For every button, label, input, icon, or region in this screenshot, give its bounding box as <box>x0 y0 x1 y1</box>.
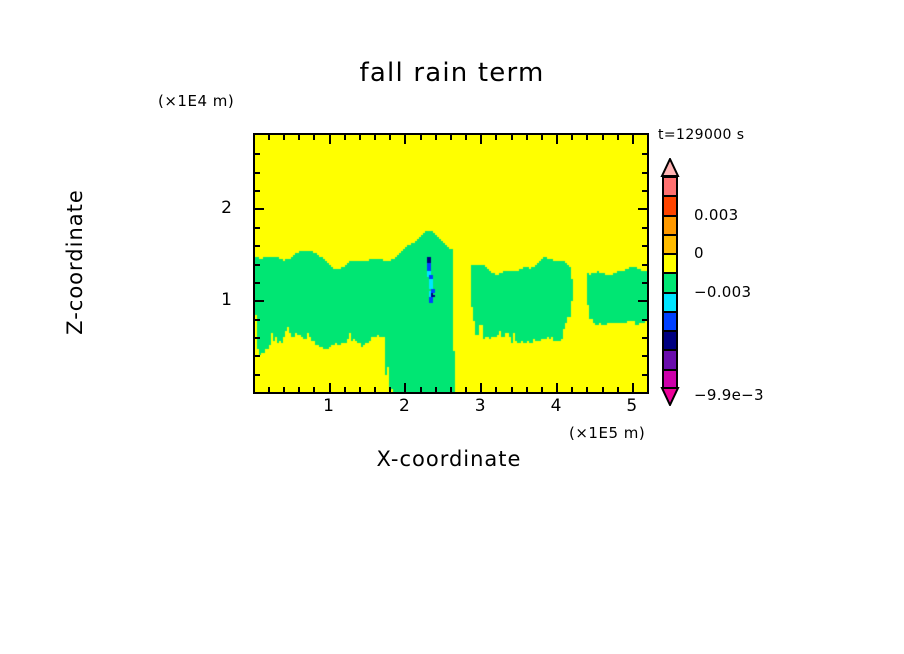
tick-mark <box>255 208 264 210</box>
tick-mark <box>255 153 260 155</box>
tick-mark <box>642 282 647 284</box>
tick-mark <box>638 208 647 210</box>
tick-mark <box>465 135 467 140</box>
x-axis-title: X-coordinate <box>253 447 645 471</box>
tick-mark <box>268 135 270 140</box>
x-tick-label: 3 <box>475 396 486 416</box>
tick-mark <box>632 135 634 144</box>
tick-mark <box>556 135 558 144</box>
tick-mark <box>571 135 573 140</box>
tick-mark <box>511 135 513 140</box>
tick-mark <box>541 135 543 140</box>
x-tick-label: 4 <box>551 396 562 416</box>
tick-mark <box>255 264 260 266</box>
tick-mark <box>617 135 619 140</box>
tick-mark <box>526 387 528 392</box>
tick-mark <box>642 319 647 321</box>
tick-mark <box>480 135 482 144</box>
x-tick-label: 5 <box>626 396 637 416</box>
tick-mark <box>642 190 647 192</box>
tick-mark <box>344 135 346 140</box>
tick-mark <box>329 383 331 392</box>
figure-canvas: fall rain term (×1E4 m) t=129000 s 12345… <box>0 0 904 654</box>
tick-mark <box>642 153 647 155</box>
tick-mark <box>632 383 634 392</box>
tick-mark <box>541 387 543 392</box>
tick-mark <box>642 374 647 376</box>
tick-mark <box>255 190 260 192</box>
colorbar-tick-label: 0.003 <box>694 206 738 224</box>
chart-title: fall rain term <box>0 58 904 88</box>
tick-mark <box>404 383 406 392</box>
tick-mark <box>642 227 647 229</box>
colorbar <box>659 158 681 406</box>
colorbar-tick-label: 0 <box>694 244 704 262</box>
tick-mark <box>255 227 260 229</box>
colorbar-tick-label: −9.9e−3 <box>694 386 764 404</box>
tick-mark <box>602 135 604 140</box>
y-axis-title: Z-coordinate <box>63 112 87 412</box>
tick-mark <box>495 387 497 392</box>
x-tick-label: 1 <box>323 396 334 416</box>
tick-mark <box>313 135 315 140</box>
tick-mark <box>255 172 260 174</box>
tick-mark <box>389 135 391 140</box>
tick-mark <box>359 387 361 392</box>
plot-area <box>253 133 649 394</box>
tick-mark <box>255 337 260 339</box>
y-tick-label: 2 <box>221 198 232 218</box>
colorbar-tick-label: −0.003 <box>694 283 751 301</box>
tick-mark <box>420 387 422 392</box>
tick-mark <box>255 374 260 376</box>
tick-mark <box>313 387 315 392</box>
tick-mark <box>255 319 260 321</box>
tick-mark <box>389 387 391 392</box>
tick-mark <box>255 355 260 357</box>
tick-mark <box>255 245 260 247</box>
tick-mark <box>344 387 346 392</box>
tick-mark <box>255 300 264 302</box>
x-axis-unit-label: (×1E5 m) <box>569 424 645 442</box>
tick-mark <box>526 135 528 140</box>
tick-mark <box>450 135 452 140</box>
tick-mark <box>255 282 260 284</box>
tick-mark <box>359 135 361 140</box>
heatmap-canvas <box>255 135 647 392</box>
tick-mark <box>283 387 285 392</box>
tick-mark <box>298 387 300 392</box>
tick-mark <box>642 337 647 339</box>
tick-mark <box>374 135 376 140</box>
tick-mark <box>404 135 406 144</box>
x-tick-label: 2 <box>399 396 410 416</box>
tick-mark <box>298 135 300 140</box>
tick-mark <box>602 387 604 392</box>
tick-mark <box>571 387 573 392</box>
tick-mark <box>435 135 437 140</box>
tick-mark <box>480 383 482 392</box>
tick-mark <box>495 135 497 140</box>
tick-mark <box>642 245 647 247</box>
tick-mark <box>268 387 270 392</box>
tick-mark <box>511 387 513 392</box>
tick-mark <box>435 387 437 392</box>
tick-mark <box>586 387 588 392</box>
y-axis-unit-label: (×1E4 m) <box>158 92 234 110</box>
tick-mark <box>450 387 452 392</box>
colorbar-arrow-tips <box>659 158 681 406</box>
tick-mark <box>465 387 467 392</box>
tick-mark <box>638 300 647 302</box>
tick-mark <box>642 172 647 174</box>
tick-mark <box>586 135 588 140</box>
tick-mark <box>374 387 376 392</box>
tick-mark <box>420 135 422 140</box>
tick-mark <box>283 135 285 140</box>
y-tick-label: 1 <box>221 290 232 310</box>
tick-mark <box>642 264 647 266</box>
tick-mark <box>617 387 619 392</box>
time-annotation: t=129000 s <box>658 127 744 143</box>
tick-mark <box>556 383 558 392</box>
tick-mark <box>329 135 331 144</box>
tick-mark <box>642 355 647 357</box>
